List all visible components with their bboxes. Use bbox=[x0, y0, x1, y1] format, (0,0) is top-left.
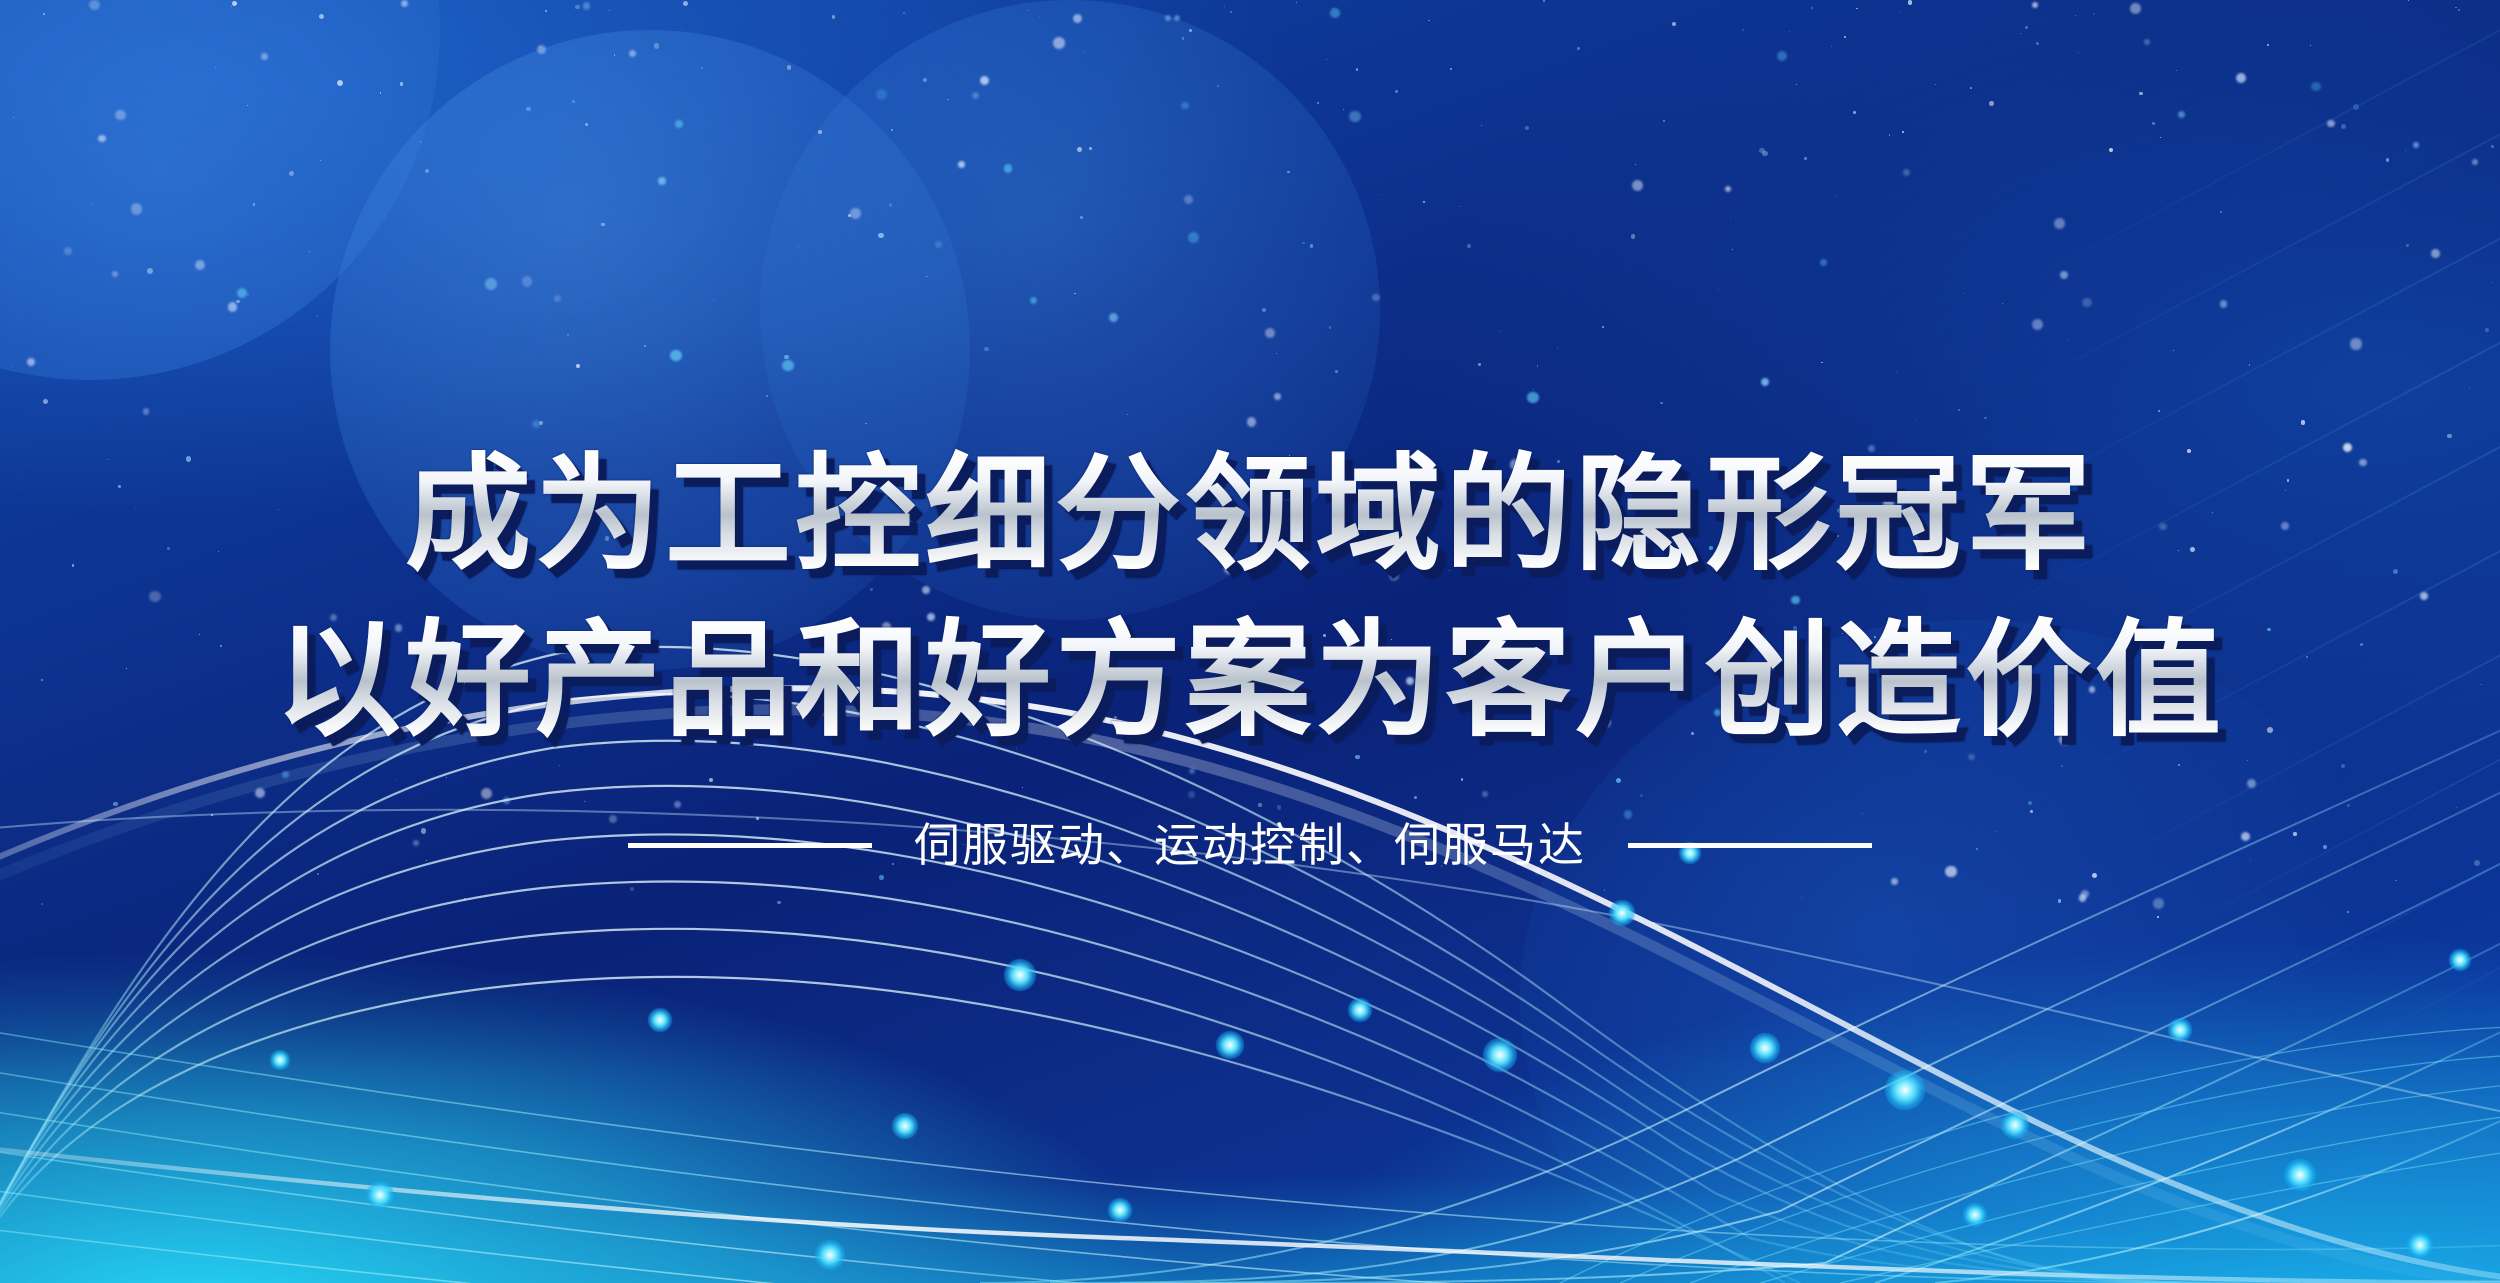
headline-line-1: 成为工控细分领域的隐形冠军 bbox=[405, 432, 2095, 598]
subtitle-row: 伺服驱动、运动控制、伺服马达 bbox=[628, 822, 1872, 868]
headline-line-2: 以好产品和好方案为客户创造价值 bbox=[275, 598, 2225, 764]
hero-banner: 成为工控细分领域的隐形冠军 以好产品和好方案为客户创造价值 伺服驱动、运动控制、… bbox=[0, 0, 2500, 1283]
banner-content: 成为工控细分领域的隐形冠军 以好产品和好方案为客户创造价值 伺服驱动、运动控制、… bbox=[0, 0, 2500, 1283]
subtitle-rule-left bbox=[628, 843, 872, 848]
subtitle-rule-right bbox=[1628, 843, 1872, 848]
subtitle-text: 伺服驱动、运动控制、伺服马达 bbox=[914, 822, 1586, 868]
